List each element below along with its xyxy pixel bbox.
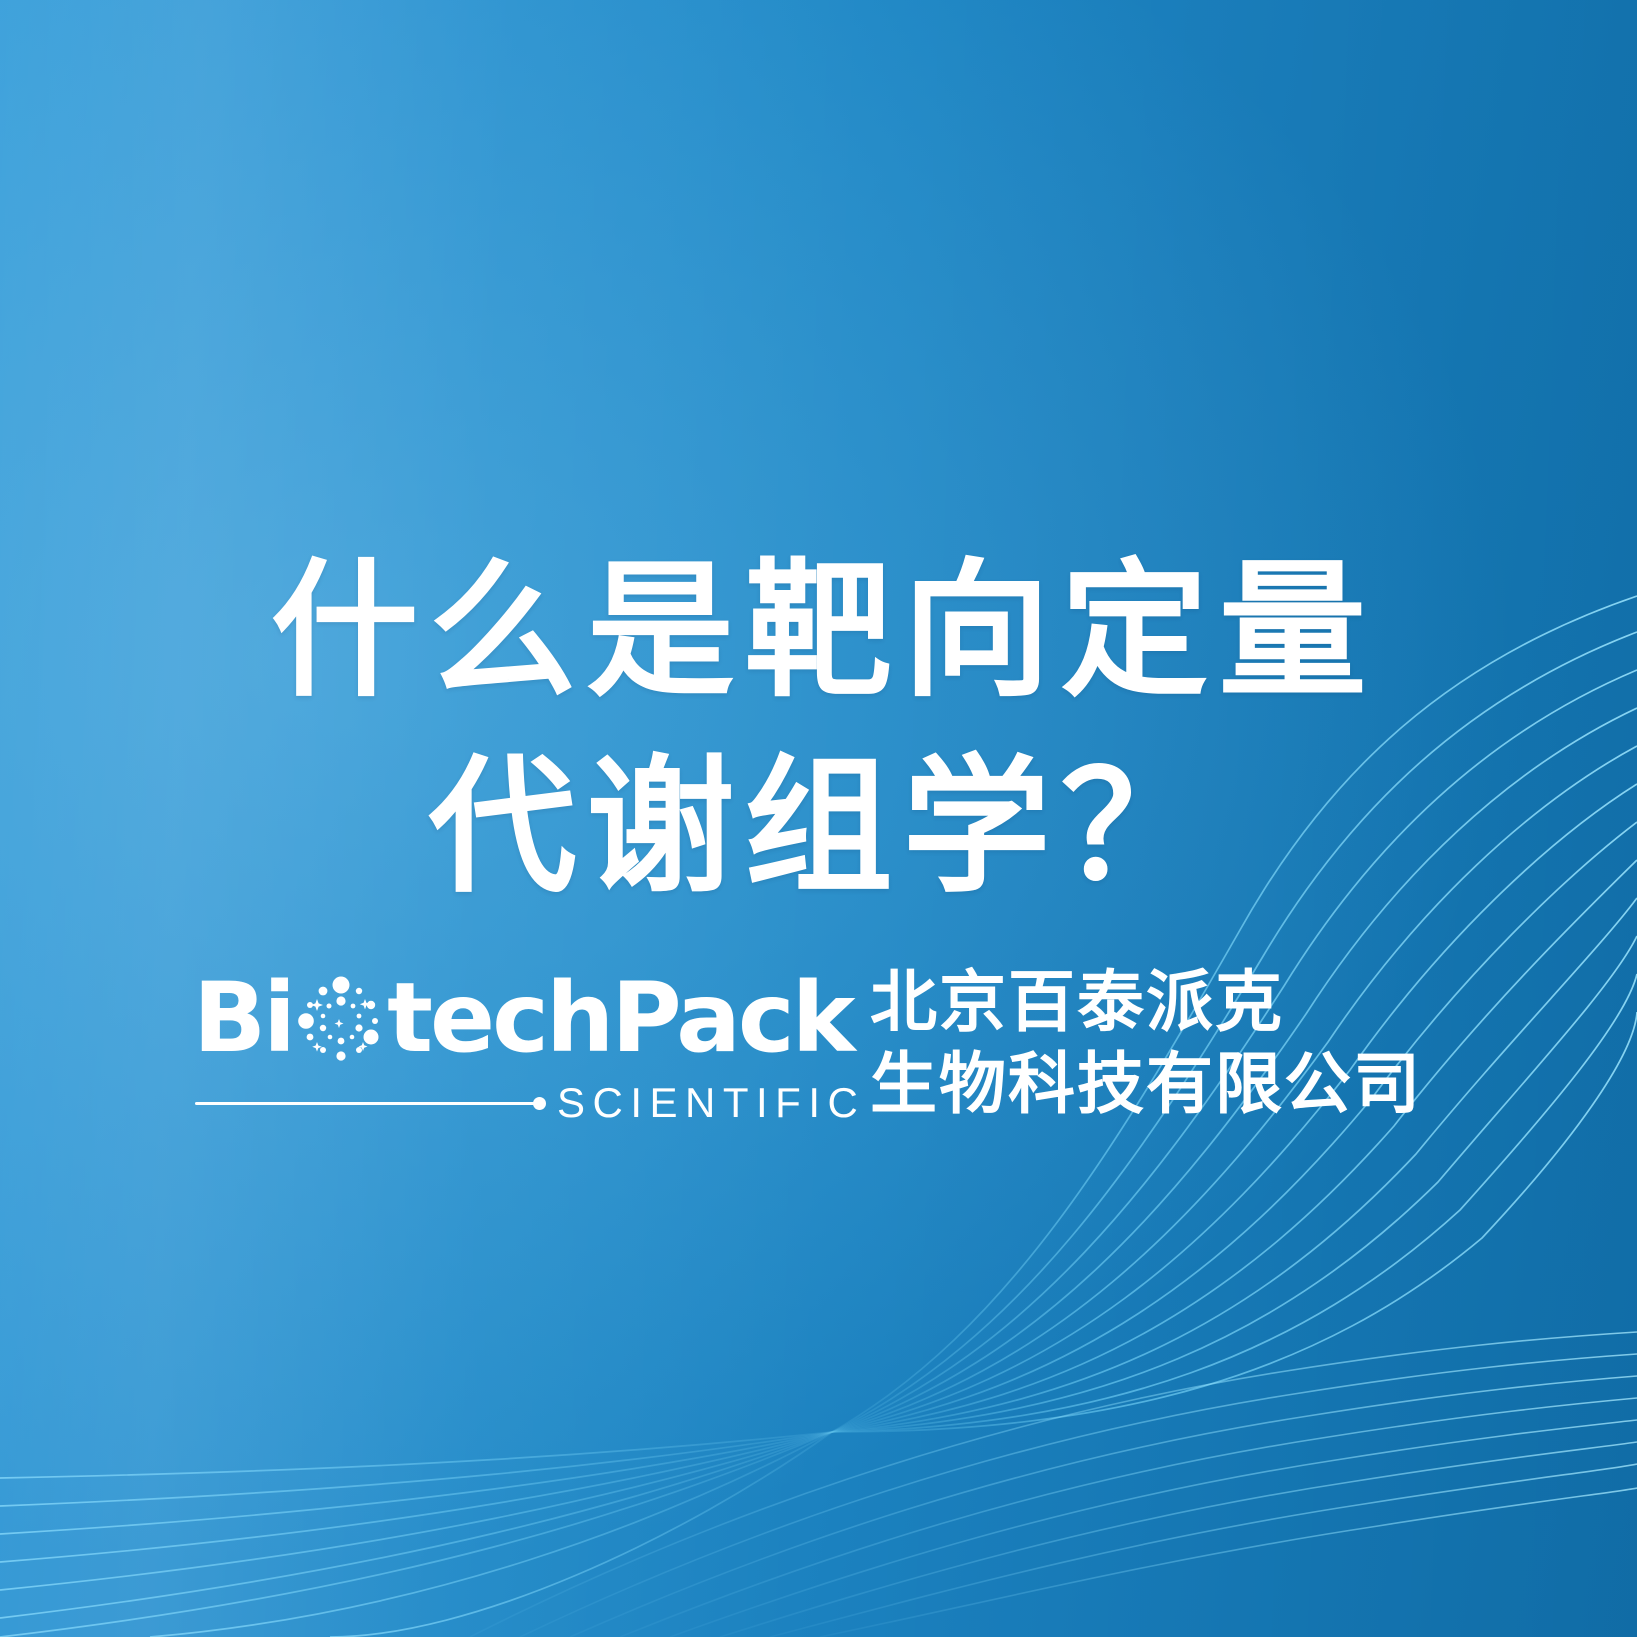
- logo-latin-block: Bi: [193, 962, 848, 1137]
- wordmark-suffix: techPack: [387, 968, 853, 1068]
- tagline-rule-dot-icon: [533, 1097, 546, 1110]
- wordmark-prefix: Bi: [193, 968, 293, 1068]
- headline-line-1: 什么是靶向定量: [0, 534, 1637, 730]
- company-name-cn: 北京百泰派克 生物科技有限公司: [870, 962, 1422, 1126]
- tagline-row: SCIENTIFIC: [195, 1080, 848, 1126]
- logo-lockup: Bi: [193, 962, 1433, 1137]
- headline-line-2: 代谢组学？: [0, 730, 1637, 926]
- company-name-cn-line-1: 北京百泰派克: [870, 962, 1422, 1044]
- wave-fan-lower-left: [0, 1432, 832, 1637]
- brand-wordmark: Bi: [193, 962, 853, 1074]
- headline: 什么是靶向定量 代谢组学？: [0, 534, 1637, 926]
- molecule-ring-icon: [293, 970, 389, 1070]
- company-name-cn-line-2: 生物科技有限公司: [870, 1044, 1422, 1126]
- poster-canvas: 什么是靶向定量 代谢组学？ Bi: [0, 0, 1637, 1637]
- tagline-rule: [195, 1102, 535, 1105]
- tagline-text: SCIENTIFIC: [557, 1081, 865, 1125]
- wave-fan-bottom-right: [470, 1332, 1637, 1637]
